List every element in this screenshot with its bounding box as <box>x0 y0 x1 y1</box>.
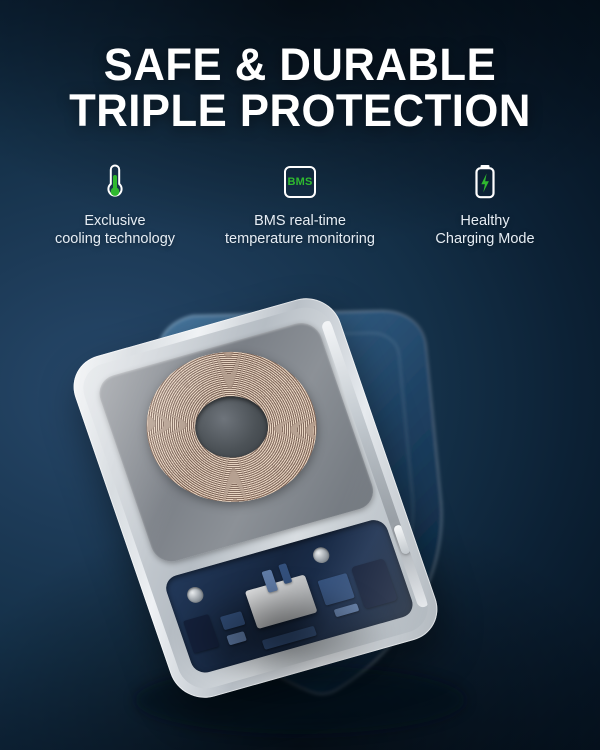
feature-caption: Exclusive cooling technology <box>55 212 175 248</box>
headline-line-2: TRIPLE PROTECTION <box>9 88 591 134</box>
headline-line-1: SAFE & DURABLE <box>9 42 591 88</box>
battery-bolt-icon <box>473 160 497 204</box>
feature-caption-line-2: temperature monitoring <box>225 230 375 248</box>
feature-caption-line-1: Exclusive <box>55 212 175 230</box>
feature-cooling-technology: Exclusive cooling technology <box>23 160 208 248</box>
bms-icon-frame: BMS <box>284 166 316 198</box>
feature-row: Exclusive cooling technology BMS BMS rea… <box>0 160 600 248</box>
bms-icon-label: BMS <box>287 177 312 188</box>
feature-caption-line-1: Healthy <box>435 212 534 230</box>
thermometer-icon <box>105 160 125 204</box>
feature-bms-monitoring: BMS BMS real-time temperature monitoring <box>208 160 393 248</box>
feature-healthy-charging: Healthy Charging Mode <box>393 160 578 248</box>
feature-caption-line-1: BMS real-time <box>225 212 375 230</box>
feature-caption-line-2: cooling technology <box>55 230 175 248</box>
bms-box-icon: BMS <box>284 160 316 204</box>
product-marketing-poster: SAFE & DURABLE TRIPLE PROTECTION Exclusi… <box>0 0 600 750</box>
feature-caption: BMS real-time temperature monitoring <box>225 212 375 248</box>
headline: SAFE & DURABLE TRIPLE PROTECTION <box>0 42 600 134</box>
product-shadow <box>140 560 430 710</box>
feature-caption: Healthy Charging Mode <box>435 212 534 248</box>
feature-caption-line-2: Charging Mode <box>435 230 534 248</box>
